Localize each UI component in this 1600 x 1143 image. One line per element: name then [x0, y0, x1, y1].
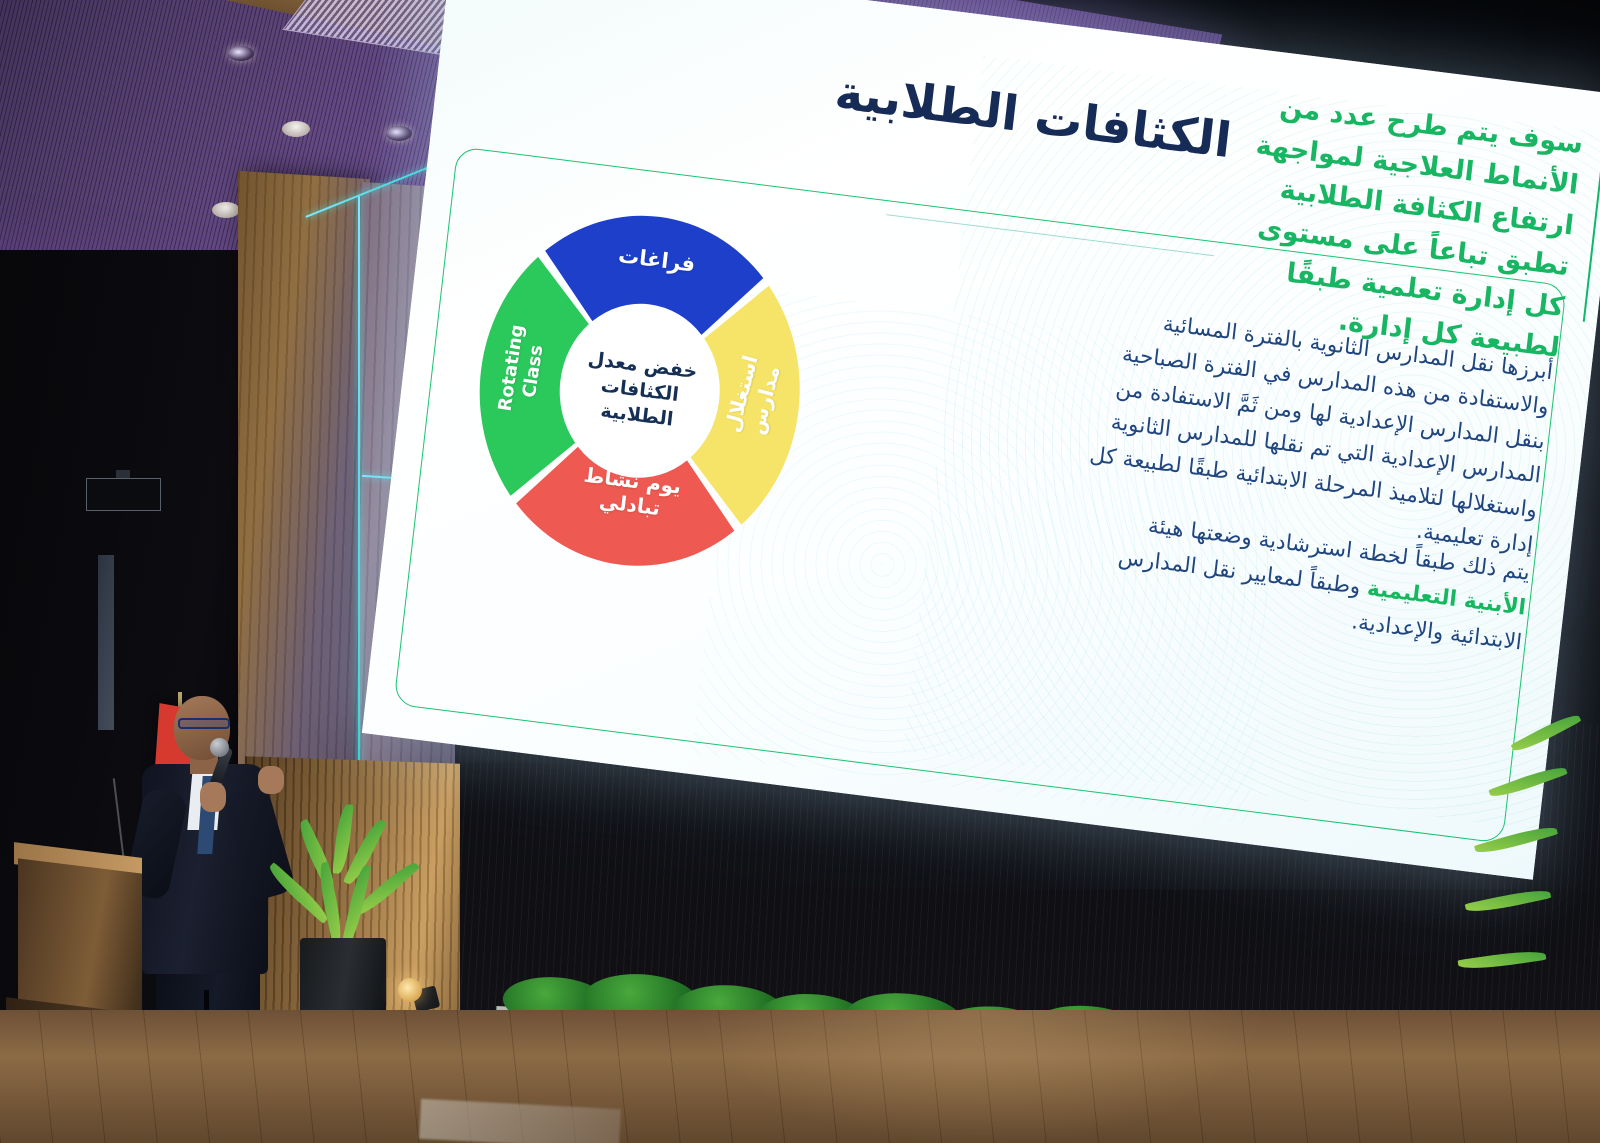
leaf	[1474, 823, 1558, 858]
projection-screen: الكثافات الطلابية سوف يتم طرح عدد من الأ…	[362, 0, 1600, 880]
donut-chart: خفض معدل الكثافات الطلابية فراغات استغلا…	[455, 191, 824, 590]
potted-palm-right	[1450, 690, 1600, 1020]
leaf	[1465, 886, 1552, 916]
ceiling-spotlight-icon	[228, 46, 254, 61]
microphone-icon	[210, 738, 229, 757]
leaf	[1488, 763, 1567, 802]
donut-center-label: خفض معدل الكثافات الطلابية	[561, 344, 718, 438]
scene-root: الكثافات الطلابية سوف يتم طرح عدد من الأ…	[0, 0, 1600, 1143]
uplight-lamp-icon	[398, 978, 422, 1002]
eyeglasses-icon	[178, 718, 230, 729]
smoke-detector-icon	[212, 202, 240, 218]
speaker-right-hand	[258, 766, 284, 794]
floor-light-reflection	[700, 1010, 1260, 1143]
potted-palm-leaves	[288, 800, 408, 960]
ceiling-spotlight-icon	[386, 126, 412, 141]
led-accent-strip	[358, 196, 360, 856]
smoke-detector-icon	[282, 121, 310, 137]
leaf	[316, 862, 346, 945]
slide-canvas: الكثافات الطلابية سوف يتم طرح عدد من الأ…	[362, 0, 1600, 880]
podium-body	[18, 858, 142, 1023]
wall-mounted-monitor	[86, 478, 161, 511]
leaf	[1458, 948, 1547, 972]
speaker-left-hand	[200, 782, 226, 812]
wall-post	[98, 555, 114, 730]
leaf	[294, 819, 339, 892]
leaf	[1511, 710, 1582, 755]
